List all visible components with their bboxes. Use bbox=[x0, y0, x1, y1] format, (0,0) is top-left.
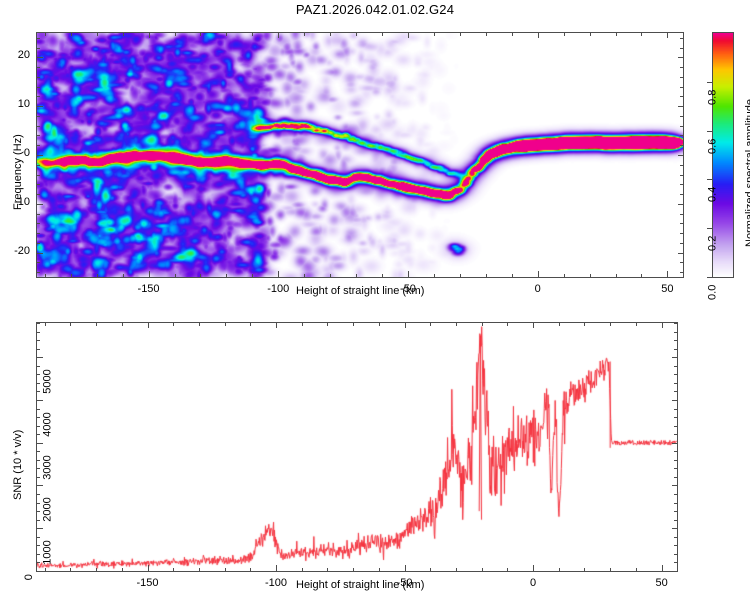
axis-tick bbox=[36, 155, 43, 156]
axis-tick bbox=[680, 116, 684, 117]
axis-tick-label: -100 bbox=[267, 283, 289, 295]
snr-canvas bbox=[37, 323, 677, 571]
axis-tick bbox=[36, 106, 43, 107]
axis-tick bbox=[667, 271, 668, 278]
axis-tick bbox=[456, 568, 457, 572]
axis-tick bbox=[226, 274, 227, 278]
axis-tick bbox=[674, 494, 678, 495]
axis-tick bbox=[199, 568, 200, 572]
axis-tick bbox=[507, 568, 508, 572]
axis-tick bbox=[680, 145, 684, 146]
axis-tick bbox=[36, 145, 40, 146]
axis-tick bbox=[122, 322, 123, 326]
axis-tick bbox=[662, 565, 663, 572]
axis-tick bbox=[36, 537, 40, 538]
axis-tick bbox=[538, 32, 539, 38]
axis-tick bbox=[680, 262, 684, 263]
axis-tick bbox=[45, 322, 46, 326]
axis-tick bbox=[276, 322, 277, 328]
colorbar-tick-label: 0.4 bbox=[706, 187, 718, 202]
axis-tick bbox=[148, 565, 149, 572]
axis-tick bbox=[405, 565, 406, 572]
axis-tick bbox=[584, 568, 585, 572]
axis-tick bbox=[680, 223, 684, 224]
axis-tick bbox=[680, 48, 684, 49]
snr-ylabel: SNR (10 * v/v) bbox=[12, 430, 24, 500]
axis-tick bbox=[674, 537, 678, 538]
axis-tick bbox=[616, 32, 617, 36]
axis-tick bbox=[36, 272, 40, 273]
axis-tick bbox=[252, 274, 253, 278]
axis-tick bbox=[707, 277, 713, 278]
axis-tick bbox=[36, 503, 40, 504]
axis-tick-label: -20 bbox=[14, 245, 30, 257]
axis-tick bbox=[512, 32, 513, 36]
snr-panel bbox=[36, 322, 678, 572]
axis-tick bbox=[674, 477, 678, 478]
axis-tick bbox=[590, 32, 591, 36]
axis-tick bbox=[330, 32, 331, 36]
axis-tick bbox=[36, 38, 40, 39]
axis-tick bbox=[678, 155, 684, 156]
axis-tick bbox=[564, 274, 565, 278]
colorbar-label: Normalized spectral amplitude bbox=[744, 99, 750, 247]
axis-tick bbox=[36, 562, 40, 563]
axis-tick bbox=[36, 194, 40, 195]
axis-tick bbox=[678, 253, 684, 254]
axis-tick bbox=[36, 262, 40, 263]
axis-tick bbox=[225, 322, 226, 326]
axis-tick bbox=[672, 443, 678, 444]
axis-tick bbox=[674, 391, 678, 392]
axis-tick-label: 10 bbox=[18, 98, 30, 110]
axis-tick bbox=[36, 426, 40, 427]
axis-tick bbox=[36, 175, 40, 176]
axis-tick bbox=[36, 323, 40, 324]
axis-tick bbox=[674, 374, 678, 375]
axis-tick bbox=[680, 243, 684, 244]
axis-tick bbox=[408, 32, 409, 38]
axis-tick bbox=[330, 274, 331, 278]
axis-tick bbox=[707, 131, 713, 132]
axis-tick bbox=[678, 106, 684, 107]
axis-tick bbox=[680, 233, 684, 234]
colorbar-tick-label: 0.6 bbox=[706, 138, 718, 153]
axis-tick bbox=[674, 434, 678, 435]
axis-tick bbox=[434, 32, 435, 36]
axis-tick bbox=[674, 366, 678, 367]
axis-tick bbox=[36, 477, 40, 478]
colorbar-tick-label: 0.2 bbox=[706, 236, 718, 251]
axis-tick bbox=[674, 554, 678, 555]
axis-tick bbox=[707, 228, 713, 229]
axis-tick-label: 20 bbox=[18, 49, 30, 61]
axis-tick bbox=[610, 322, 611, 326]
spectrogram-ylabel: Frequency (Hz) bbox=[12, 134, 24, 210]
axis-tick bbox=[678, 204, 684, 205]
axis-tick bbox=[226, 32, 227, 36]
axis-tick bbox=[36, 135, 40, 136]
axis-tick bbox=[482, 322, 483, 326]
axis-tick bbox=[36, 545, 40, 546]
axis-tick bbox=[36, 374, 40, 375]
axis-tick bbox=[123, 32, 124, 36]
axis-tick bbox=[36, 204, 43, 205]
axis-tick bbox=[96, 322, 97, 326]
axis-tick bbox=[662, 322, 663, 328]
axis-tick bbox=[278, 32, 279, 38]
axis-tick bbox=[674, 426, 678, 427]
colorbar-tick-label: 0.0 bbox=[706, 285, 718, 300]
axis-tick bbox=[302, 568, 303, 572]
axis-tick bbox=[36, 400, 43, 401]
axis-tick bbox=[36, 67, 40, 68]
axis-tick bbox=[379, 322, 380, 326]
axis-tick bbox=[302, 322, 303, 326]
axis-tick-label: 0 bbox=[530, 577, 536, 589]
axis-tick bbox=[434, 274, 435, 278]
axis-tick bbox=[680, 165, 684, 166]
axis-tick bbox=[36, 451, 40, 452]
axis-tick bbox=[405, 322, 406, 328]
axis-tick bbox=[304, 32, 305, 36]
spectrogram-xlabel: Height of straight line (km) bbox=[296, 285, 424, 297]
axis-tick bbox=[173, 322, 174, 326]
spectrogram-panel bbox=[36, 32, 684, 278]
axis-tick bbox=[356, 274, 357, 278]
axis-tick bbox=[36, 391, 40, 392]
axis-tick bbox=[45, 568, 46, 572]
axis-tick-label: -150 bbox=[138, 283, 160, 295]
axis-tick bbox=[36, 357, 43, 358]
axis-tick bbox=[512, 274, 513, 278]
axis-tick bbox=[36, 243, 40, 244]
axis-tick bbox=[36, 165, 40, 166]
axis-tick bbox=[680, 194, 684, 195]
axis-tick bbox=[122, 568, 123, 572]
axis-tick bbox=[36, 520, 40, 521]
axis-tick bbox=[36, 434, 40, 435]
axis-tick bbox=[667, 32, 668, 38]
axis-tick bbox=[674, 520, 678, 521]
axis-tick bbox=[353, 568, 354, 572]
axis-tick bbox=[200, 274, 201, 278]
axis-tick bbox=[148, 322, 149, 328]
snr-xlabel: Height of straight line (km) bbox=[296, 579, 424, 591]
figure-root: PAZ1.2026.042.01.02.G24 -150-100-50050-2… bbox=[0, 0, 750, 600]
axis-tick bbox=[71, 274, 72, 278]
axis-tick bbox=[636, 322, 637, 326]
axis-tick bbox=[45, 32, 46, 36]
axis-tick bbox=[97, 32, 98, 36]
axis-tick-label: 2000 bbox=[41, 498, 53, 522]
axis-tick-label: 50 bbox=[655, 577, 667, 589]
axis-tick bbox=[149, 32, 150, 38]
axis-tick-label: 5000 bbox=[41, 369, 53, 393]
axis-tick bbox=[486, 274, 487, 278]
axis-tick bbox=[430, 568, 431, 572]
axis-tick bbox=[408, 271, 409, 278]
axis-tick bbox=[36, 253, 43, 254]
axis-tick bbox=[507, 322, 508, 326]
axis-tick bbox=[382, 32, 383, 36]
axis-tick bbox=[353, 322, 354, 326]
axis-tick bbox=[672, 357, 678, 358]
axis-tick bbox=[36, 349, 40, 350]
axis-tick bbox=[276, 565, 277, 572]
axis-tick bbox=[590, 274, 591, 278]
axis-tick bbox=[304, 274, 305, 278]
axis-tick bbox=[672, 485, 678, 486]
axis-tick bbox=[674, 451, 678, 452]
axis-tick bbox=[36, 48, 40, 49]
axis-tick bbox=[36, 57, 43, 58]
axis-tick bbox=[250, 568, 251, 572]
axis-tick bbox=[674, 468, 678, 469]
axis-tick bbox=[149, 271, 150, 278]
axis-tick bbox=[36, 571, 43, 572]
axis-tick bbox=[456, 322, 457, 326]
axis-tick bbox=[36, 494, 40, 495]
axis-tick bbox=[36, 214, 40, 215]
axis-tick-label: 0 bbox=[24, 147, 30, 159]
axis-tick bbox=[680, 38, 684, 39]
axis-tick bbox=[680, 175, 684, 176]
axis-tick bbox=[674, 417, 678, 418]
axis-tick bbox=[97, 274, 98, 278]
axis-tick bbox=[36, 468, 40, 469]
axis-tick bbox=[674, 383, 678, 384]
axis-tick bbox=[674, 340, 678, 341]
axis-tick bbox=[680, 87, 684, 88]
axis-tick bbox=[36, 126, 40, 127]
axis-tick bbox=[36, 383, 40, 384]
axis-tick bbox=[356, 32, 357, 36]
axis-tick-label: 3000 bbox=[41, 455, 53, 479]
axis-tick bbox=[672, 400, 678, 401]
axis-tick-label: 0 bbox=[535, 283, 541, 295]
axis-tick bbox=[36, 184, 40, 185]
axis-tick bbox=[200, 32, 201, 36]
axis-tick bbox=[382, 274, 383, 278]
axis-tick bbox=[564, 32, 565, 36]
axis-tick bbox=[36, 485, 43, 486]
axis-tick-label: -100 bbox=[265, 577, 287, 589]
axis-tick-label: -150 bbox=[137, 577, 159, 589]
axis-tick bbox=[610, 568, 611, 572]
axis-tick bbox=[379, 568, 380, 572]
axis-tick bbox=[680, 214, 684, 215]
axis-tick bbox=[678, 57, 684, 58]
axis-tick bbox=[36, 96, 40, 97]
axis-tick bbox=[252, 32, 253, 36]
axis-tick bbox=[680, 184, 684, 185]
axis-tick bbox=[96, 568, 97, 572]
axis-tick bbox=[680, 67, 684, 68]
axis-tick bbox=[674, 323, 678, 324]
axis-tick bbox=[559, 322, 560, 326]
axis-tick-label: 4000 bbox=[41, 412, 53, 436]
axis-tick bbox=[36, 332, 40, 333]
axis-tick bbox=[486, 32, 487, 36]
axis-tick bbox=[36, 443, 43, 444]
axis-tick-label: 1000 bbox=[41, 540, 53, 564]
axis-tick bbox=[559, 568, 560, 572]
axis-tick bbox=[674, 503, 678, 504]
axis-tick-label: 0 bbox=[23, 574, 35, 580]
axis-tick bbox=[278, 271, 279, 278]
axis-tick bbox=[460, 274, 461, 278]
axis-tick bbox=[680, 126, 684, 127]
axis-tick bbox=[674, 511, 678, 512]
axis-tick bbox=[584, 322, 585, 326]
axis-tick bbox=[680, 135, 684, 136]
axis-tick bbox=[36, 87, 40, 88]
axis-tick bbox=[36, 77, 40, 78]
axis-tick bbox=[674, 349, 678, 350]
axis-tick bbox=[674, 409, 678, 410]
colorbar-tick-label: 0.8 bbox=[706, 89, 718, 104]
axis-tick bbox=[71, 32, 72, 36]
axis-tick bbox=[36, 223, 40, 224]
axis-tick bbox=[674, 332, 678, 333]
axis-tick bbox=[70, 568, 71, 572]
axis-tick bbox=[250, 322, 251, 326]
axis-tick bbox=[707, 179, 713, 180]
axis-tick bbox=[533, 322, 534, 328]
axis-tick bbox=[36, 233, 40, 234]
axis-tick bbox=[674, 460, 678, 461]
axis-tick bbox=[641, 32, 642, 36]
axis-tick bbox=[36, 511, 40, 512]
axis-tick bbox=[674, 562, 678, 563]
axis-tick bbox=[36, 366, 40, 367]
axis-tick bbox=[680, 272, 684, 273]
axis-tick bbox=[533, 565, 534, 572]
axis-tick bbox=[70, 322, 71, 326]
axis-tick bbox=[327, 322, 328, 326]
axis-tick bbox=[482, 568, 483, 572]
axis-tick bbox=[680, 96, 684, 97]
axis-tick-label: 50 bbox=[661, 283, 673, 295]
axis-tick bbox=[636, 568, 637, 572]
axis-tick bbox=[430, 322, 431, 326]
axis-tick bbox=[36, 116, 40, 117]
axis-tick bbox=[641, 274, 642, 278]
axis-tick bbox=[327, 568, 328, 572]
axis-tick bbox=[616, 274, 617, 278]
axis-tick bbox=[680, 77, 684, 78]
axis-tick bbox=[175, 32, 176, 36]
axis-tick bbox=[36, 528, 43, 529]
axis-tick bbox=[538, 271, 539, 278]
axis-tick bbox=[460, 32, 461, 36]
axis-tick bbox=[199, 322, 200, 326]
spectrogram-canvas bbox=[37, 33, 683, 277]
axis-tick bbox=[45, 274, 46, 278]
axis-tick bbox=[36, 340, 40, 341]
axis-tick bbox=[36, 409, 40, 410]
axis-tick bbox=[123, 274, 124, 278]
axis-tick bbox=[36, 460, 40, 461]
axis-tick bbox=[672, 528, 678, 529]
axis-tick bbox=[175, 274, 176, 278]
axis-tick bbox=[707, 82, 713, 83]
axis-tick bbox=[173, 568, 174, 572]
axis-tick bbox=[36, 554, 40, 555]
axis-tick bbox=[672, 571, 678, 572]
axis-tick bbox=[674, 545, 678, 546]
page-title: PAZ1.2026.042.01.02.G24 bbox=[0, 2, 750, 17]
axis-tick bbox=[36, 417, 40, 418]
axis-tick bbox=[225, 568, 226, 572]
